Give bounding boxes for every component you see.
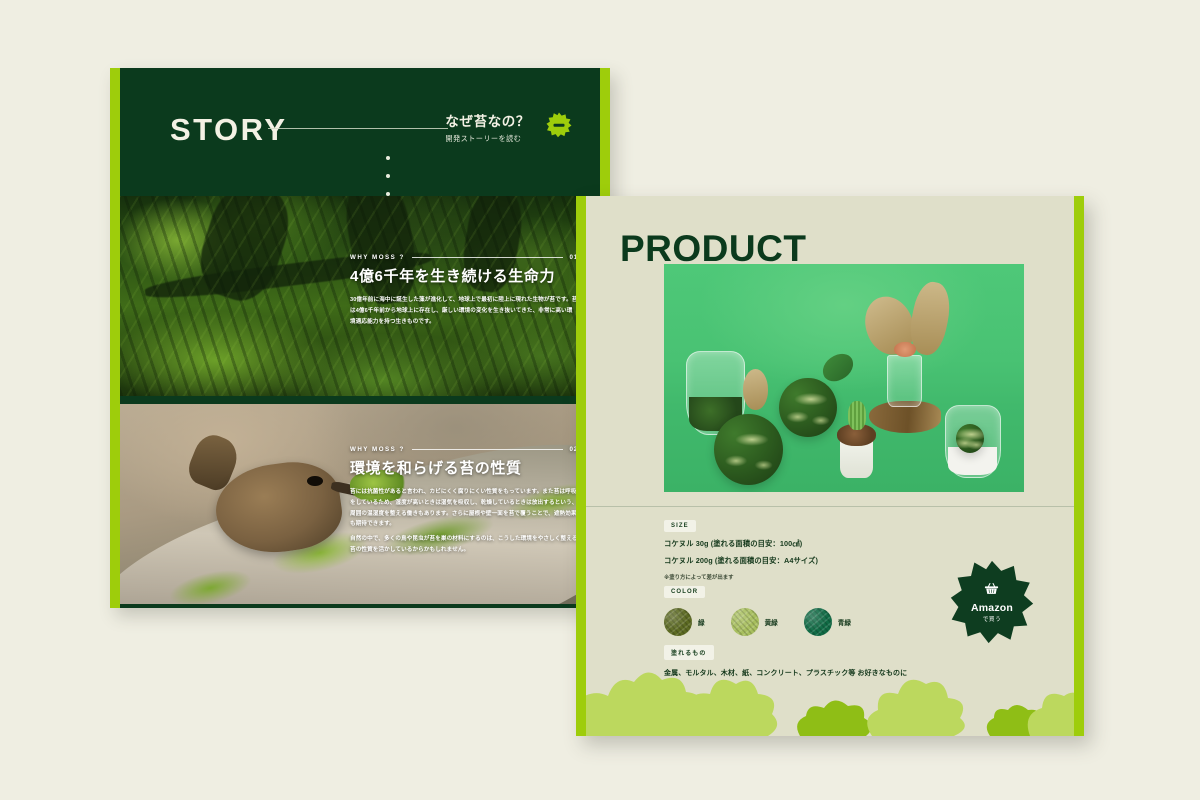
product-right-accent-strip (1074, 196, 1084, 736)
section-body: 苔には抗菌性があると言われ、カビにくく腐りにくい性質をもっています。また苔は呼吸… (350, 487, 578, 556)
color-swatch-list: 緑 黄緑 青緑 (664, 608, 964, 636)
story-nav[interactable]: なぜ苔なの？ 開発ストーリーを読む (445, 110, 530, 144)
amazon-sublabel: で買う (971, 615, 1013, 623)
section-heading: 環境を和らげる苔の性質 (350, 460, 578, 479)
story-section-02: WHY MOSS ? 02 環境を和らげる苔の性質 苔には抗菌性があると言われ、… (120, 404, 600, 604)
product-card-body: PRODUCT (586, 196, 1074, 736)
section-body: 30億年前に海中に誕生した藻が進化して、地球上で最初に陸上に現れた生物が苔です。… (350, 295, 578, 328)
moss-ball-back (779, 378, 837, 437)
story-nav-sublabel: 開発ストーリーを読む (445, 134, 530, 144)
story-card: STORY なぜ苔なの？ 開発ストーリーを読む (110, 68, 610, 608)
color-swatch[interactable]: 緑 (664, 608, 705, 636)
story-nav-label: なぜ苔なの？ (445, 110, 530, 130)
shopping-basket-icon (984, 582, 999, 595)
story-card-body: STORY なぜ苔なの？ 開発ストーリーを読む (120, 68, 600, 608)
trunk (190, 196, 299, 309)
story-section-01: WHY MOSS ? 01 4億6千年を生き続ける生命力 30億年前に海中に誕生… (120, 196, 600, 396)
bird-eye (307, 476, 322, 486)
page-canvas: STORY なぜ苔なの？ 開発ストーリーを読む (0, 0, 1200, 800)
story-header: STORY なぜ苔なの？ 開発ストーリーを読む (120, 68, 600, 196)
decorative-blobs (586, 650, 1074, 736)
swatch-label: 黄緑 (765, 617, 778, 627)
moss-ball-front (714, 414, 782, 485)
section-divider (586, 506, 1074, 507)
story-text-02: WHY MOSS ? 02 環境を和らげる苔の性質 苔には抗菌性があると言われ、… (350, 446, 578, 556)
color-section: COLOR 緑 黄緑 青緑 (664, 580, 964, 636)
size-line: コケヌル 30g (塗れる面積の目安：100㎠) (664, 539, 964, 549)
amazon-label: Amazon (971, 602, 1013, 614)
product-left-accent-strip (576, 196, 586, 736)
swatch-label: 青緑 (838, 617, 851, 627)
kicker: WHY MOSS ? (350, 254, 405, 261)
story-text-01: WHY MOSS ? 01 4億6千年を生き続ける生命力 30億年前に海中に誕生… (350, 254, 578, 327)
story-left-accent-strip (110, 68, 120, 608)
size-label: SIZE (664, 520, 696, 532)
title-rule (268, 128, 448, 129)
kicker-rule (412, 449, 563, 450)
swatch-dot-aomidori (804, 608, 832, 636)
swatch-dot-midori (664, 608, 692, 636)
kicker-row: WHY MOSS ? 02 (350, 446, 578, 453)
succulent-leaf (819, 351, 858, 385)
color-swatch[interactable]: 黄緑 (731, 608, 778, 636)
kicker-row: WHY MOSS ? 01 (350, 254, 578, 261)
burst-badge-icon[interactable] (546, 112, 572, 138)
amazon-buy-button[interactable]: Amazon で買う (950, 560, 1034, 644)
amazon-badge-content: Amazon で買う (971, 582, 1013, 623)
product-card: PRODUCT (576, 196, 1084, 736)
kicker-rule (412, 257, 563, 258)
photo-divider (120, 396, 600, 404)
body-paragraph: 30億年前に海中に誕生した藻が進化して、地球上で最初に陸上に現れた生物が苔です。… (350, 295, 578, 328)
burst-dash-mark (554, 124, 565, 127)
kicker: WHY MOSS ? (350, 446, 405, 453)
body-paragraph: 自然の中で、多くの鳥や昆虫が苔を巣の材料にするのは、こうした環境をやさしく整える… (350, 534, 578, 556)
color-swatch[interactable]: 青緑 (804, 608, 851, 636)
page-title: STORY (170, 112, 288, 148)
cactus (848, 401, 866, 431)
swatch-dot-kimidori (731, 608, 759, 636)
moss-products-photo (664, 264, 1024, 492)
glass-vase (887, 355, 921, 407)
color-label: COLOR (664, 586, 705, 598)
dot (386, 156, 390, 160)
blob-shapes-icon (586, 650, 1074, 736)
dot (386, 174, 390, 178)
body-paragraph: 苔には抗菌性があると言われ、カビにくく腐りにくい性質をもっています。また苔は呼吸… (350, 487, 578, 531)
size-line: コケヌル 200g (塗れる面積の目安：A4サイズ) (664, 556, 964, 566)
section-heading: 4億6千年を生き続ける生命力 (350, 268, 578, 287)
size-section: SIZE コケヌル 30g (塗れる面積の目安：100㎠) コケヌル 200g … (664, 514, 964, 581)
swatch-label: 緑 (698, 617, 705, 627)
dried-white-flowers (743, 369, 768, 410)
